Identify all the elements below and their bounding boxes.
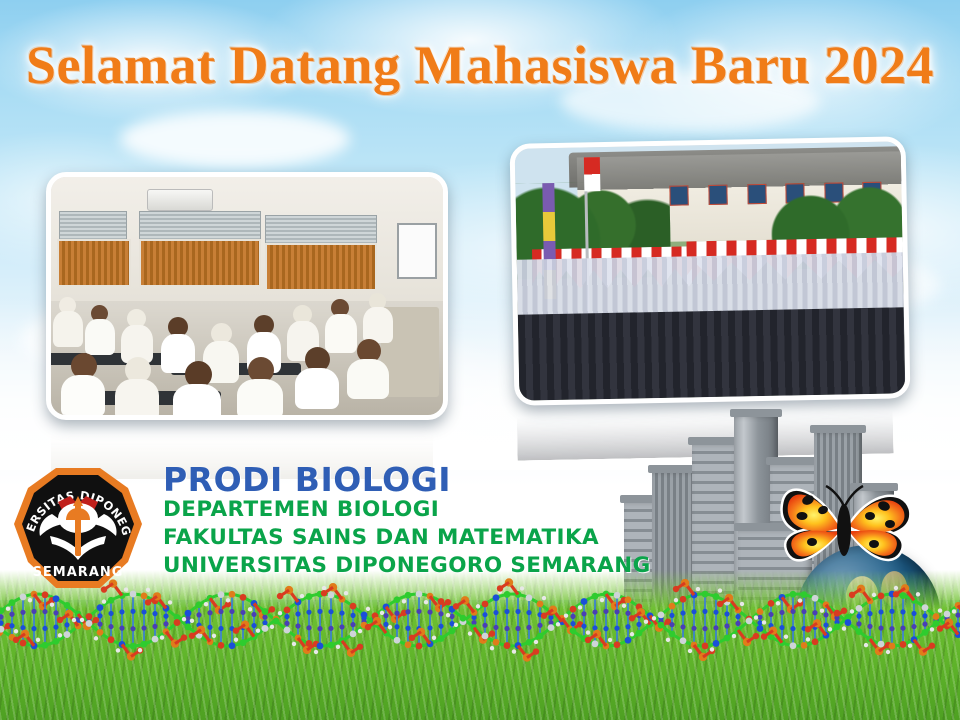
page-title: Selamat Datang Mahasiswa Baru 2024 [0,34,960,96]
wooden-window [265,243,377,291]
identity-line-faculty: FAKULTAS SAINS DAN MATEMATIKA [163,524,651,552]
identity-text-block: PRODI BIOLOGI DEPARTEMEN BIOLOGI FAKULTA… [163,463,651,580]
student-figure [53,297,83,347]
student-figure [85,305,115,355]
identity-line-department: DEPARTEMEN BIOLOGI [163,496,651,524]
whiteboard [397,223,437,279]
undip-logo[interactable]: UNIVERSITAS DIPONEGORO SEMARANG [8,466,148,592]
student-figure [115,357,159,420]
poster-canvas: Selamat Datang Mahasiswa Baru 2024 [0,0,960,720]
ceremony-group-photo[interactable] [510,136,911,406]
crowd-foreground [518,308,906,401]
logo-bottom-text: SEMARANG [33,565,124,580]
student-figure [237,357,283,419]
building-window [670,186,689,206]
student-figure [363,293,393,343]
student-figure [121,309,153,363]
program-title: PRODI BIOLOGI [163,463,651,496]
building-window [708,185,727,205]
student-figure [173,361,221,420]
classroom-scene [51,177,443,415]
student-figure [61,353,105,417]
building-window [747,184,766,204]
wooden-window [139,239,261,287]
classroom-orientation-photo[interactable] [46,172,448,420]
ceremony-scene [515,141,906,400]
identity-line-university: UNIVERSITAS DIPONEGORO SEMARANG [163,552,651,580]
cloud-shape [120,110,350,168]
student-figure [347,339,389,399]
indonesian-flag [584,157,601,191]
student-figure [295,347,339,409]
air-conditioner-icon [147,189,213,211]
wooden-window [57,239,131,287]
